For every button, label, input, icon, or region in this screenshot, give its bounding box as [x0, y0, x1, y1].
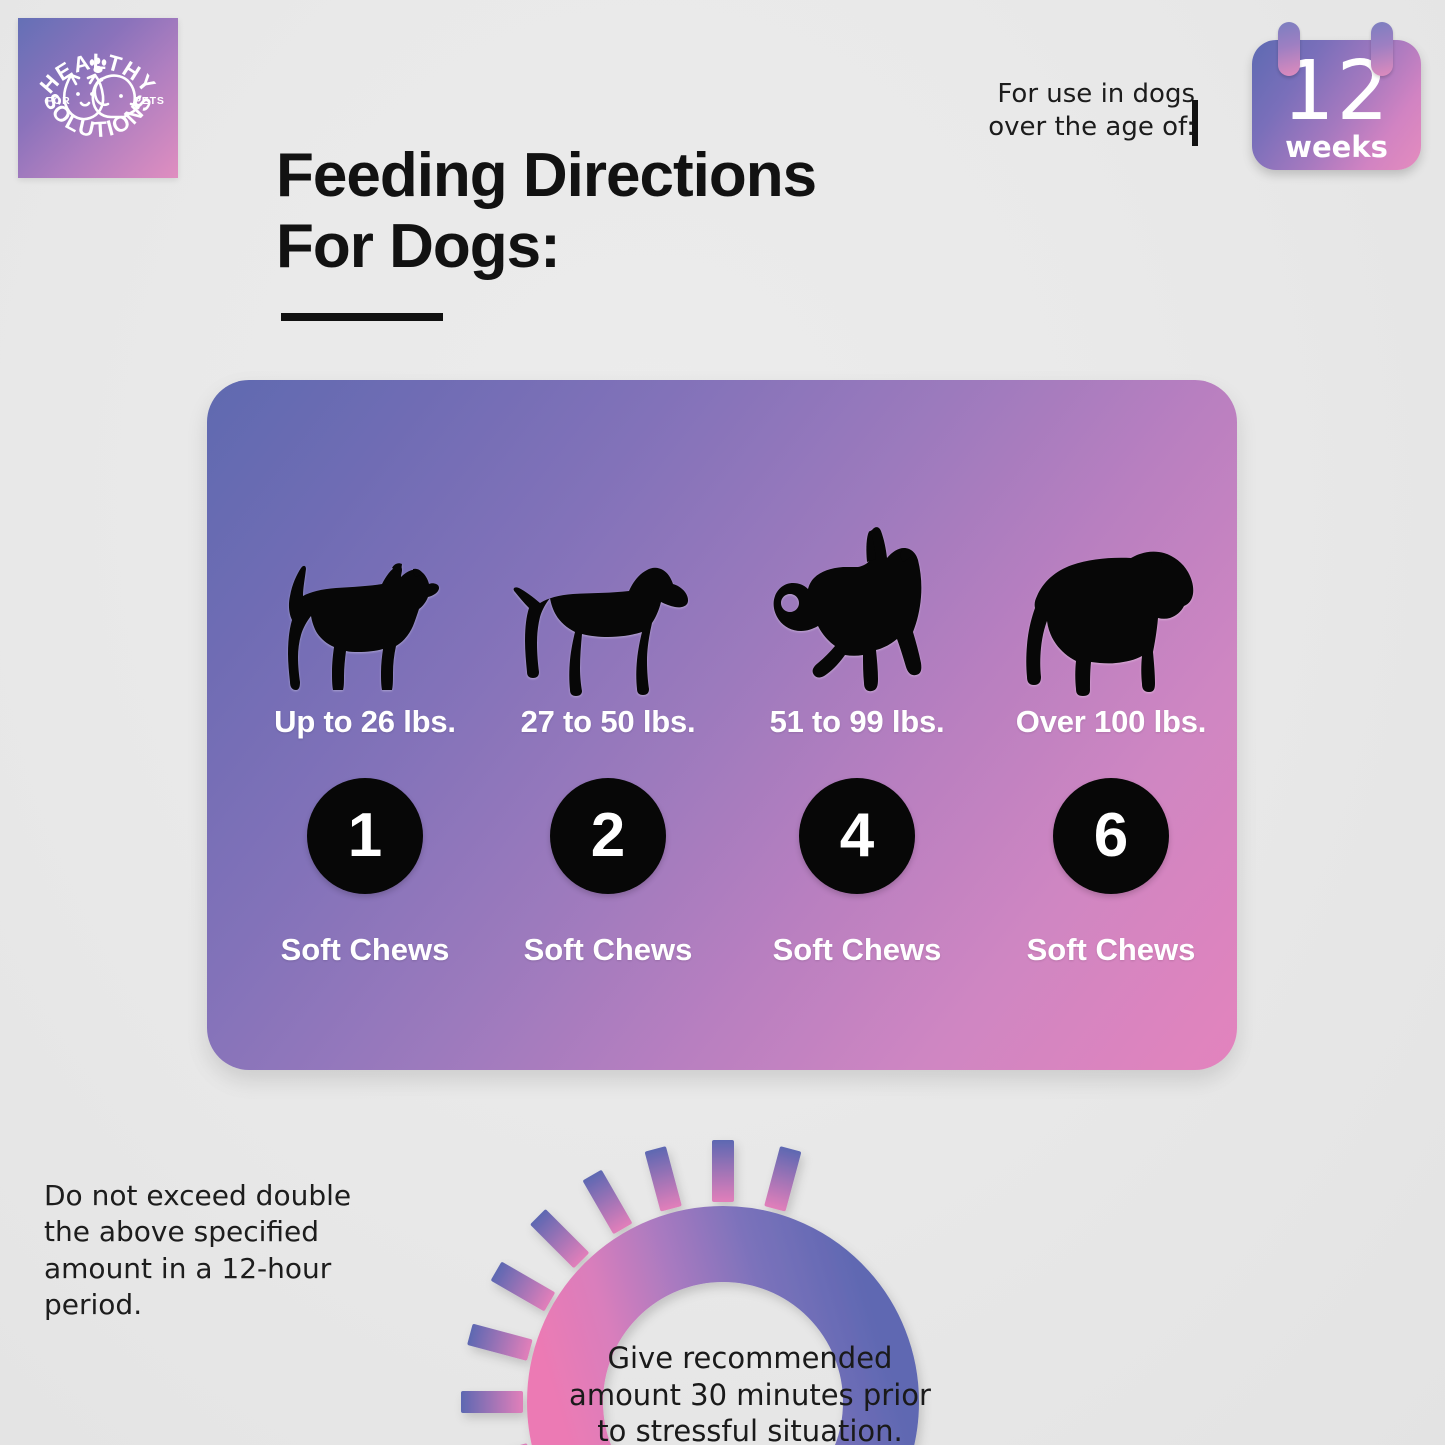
shepherd-dog-silhouette-icon — [745, 438, 970, 698]
weight-range-label: Up to 26 lbs. — [274, 704, 456, 740]
mastiff-dog-silhouette-icon — [999, 438, 1224, 698]
dose-unit-label: Soft Chews — [281, 932, 450, 968]
svg-text:HEALTHY: HEALTHY — [35, 49, 162, 98]
weight-range-label: Over 100 lbs. — [1016, 704, 1206, 740]
dose-count-number: 6 — [1094, 805, 1128, 867]
title-underline-rule — [281, 313, 443, 321]
age-requirement-text: For use in dogs over the age of: — [988, 78, 1195, 145]
page-title: Feeding Directions For Dogs: — [276, 140, 816, 283]
dosage-column: 51 to 99 lbs. 4 Soft Chews — [734, 380, 980, 1070]
medium-dog-silhouette-icon — [496, 438, 721, 698]
dose-unit-label: Soft Chews — [524, 932, 693, 968]
dose-count-badge: 1 — [307, 778, 423, 894]
header-divider — [1192, 100, 1198, 146]
timing-instruction-text: Give recommended amount 30 minutes prior… — [530, 1340, 970, 1445]
dose-count-badge: 6 — [1053, 778, 1169, 894]
dosage-card: Up to 26 lbs. 1 Soft Chews 27 to 50 lbs.… — [207, 380, 1237, 1070]
calendar-ring-right — [1371, 22, 1393, 76]
dose-unit-label: Soft Chews — [1027, 932, 1196, 968]
weight-range-label: 51 to 99 lbs. — [770, 704, 945, 740]
calendar-ring-left — [1278, 22, 1300, 76]
dose-count-number: 2 — [591, 805, 625, 867]
dose-count-badge: 4 — [799, 778, 915, 894]
dosage-column: 27 to 50 lbs. 2 Soft Chews — [485, 380, 731, 1070]
dose-count-badge: 2 — [550, 778, 666, 894]
dose-count-number: 4 — [840, 805, 874, 867]
dosage-column: Up to 26 lbs. 1 Soft Chews — [242, 380, 488, 1070]
weight-range-label: 27 to 50 lbs. — [521, 704, 696, 740]
dosage-warning-note: Do not exceed double the above specified… — [44, 1178, 374, 1324]
terrier-dog-silhouette-icon — [253, 438, 478, 698]
calendar-icon: 12 weeks — [1248, 22, 1423, 174]
brand-logo: HEALTHY SOLUTIONS FOR PETS — [18, 18, 178, 178]
calendar-unit: weeks — [1285, 130, 1388, 164]
dose-count-number: 1 — [348, 805, 382, 867]
dosage-column: Over 100 lbs. 6 Soft Chews — [988, 380, 1234, 1070]
dose-unit-label: Soft Chews — [773, 932, 942, 968]
infographic-page: HEALTHY SOLUTIONS FOR PETS — [0, 0, 1445, 1445]
